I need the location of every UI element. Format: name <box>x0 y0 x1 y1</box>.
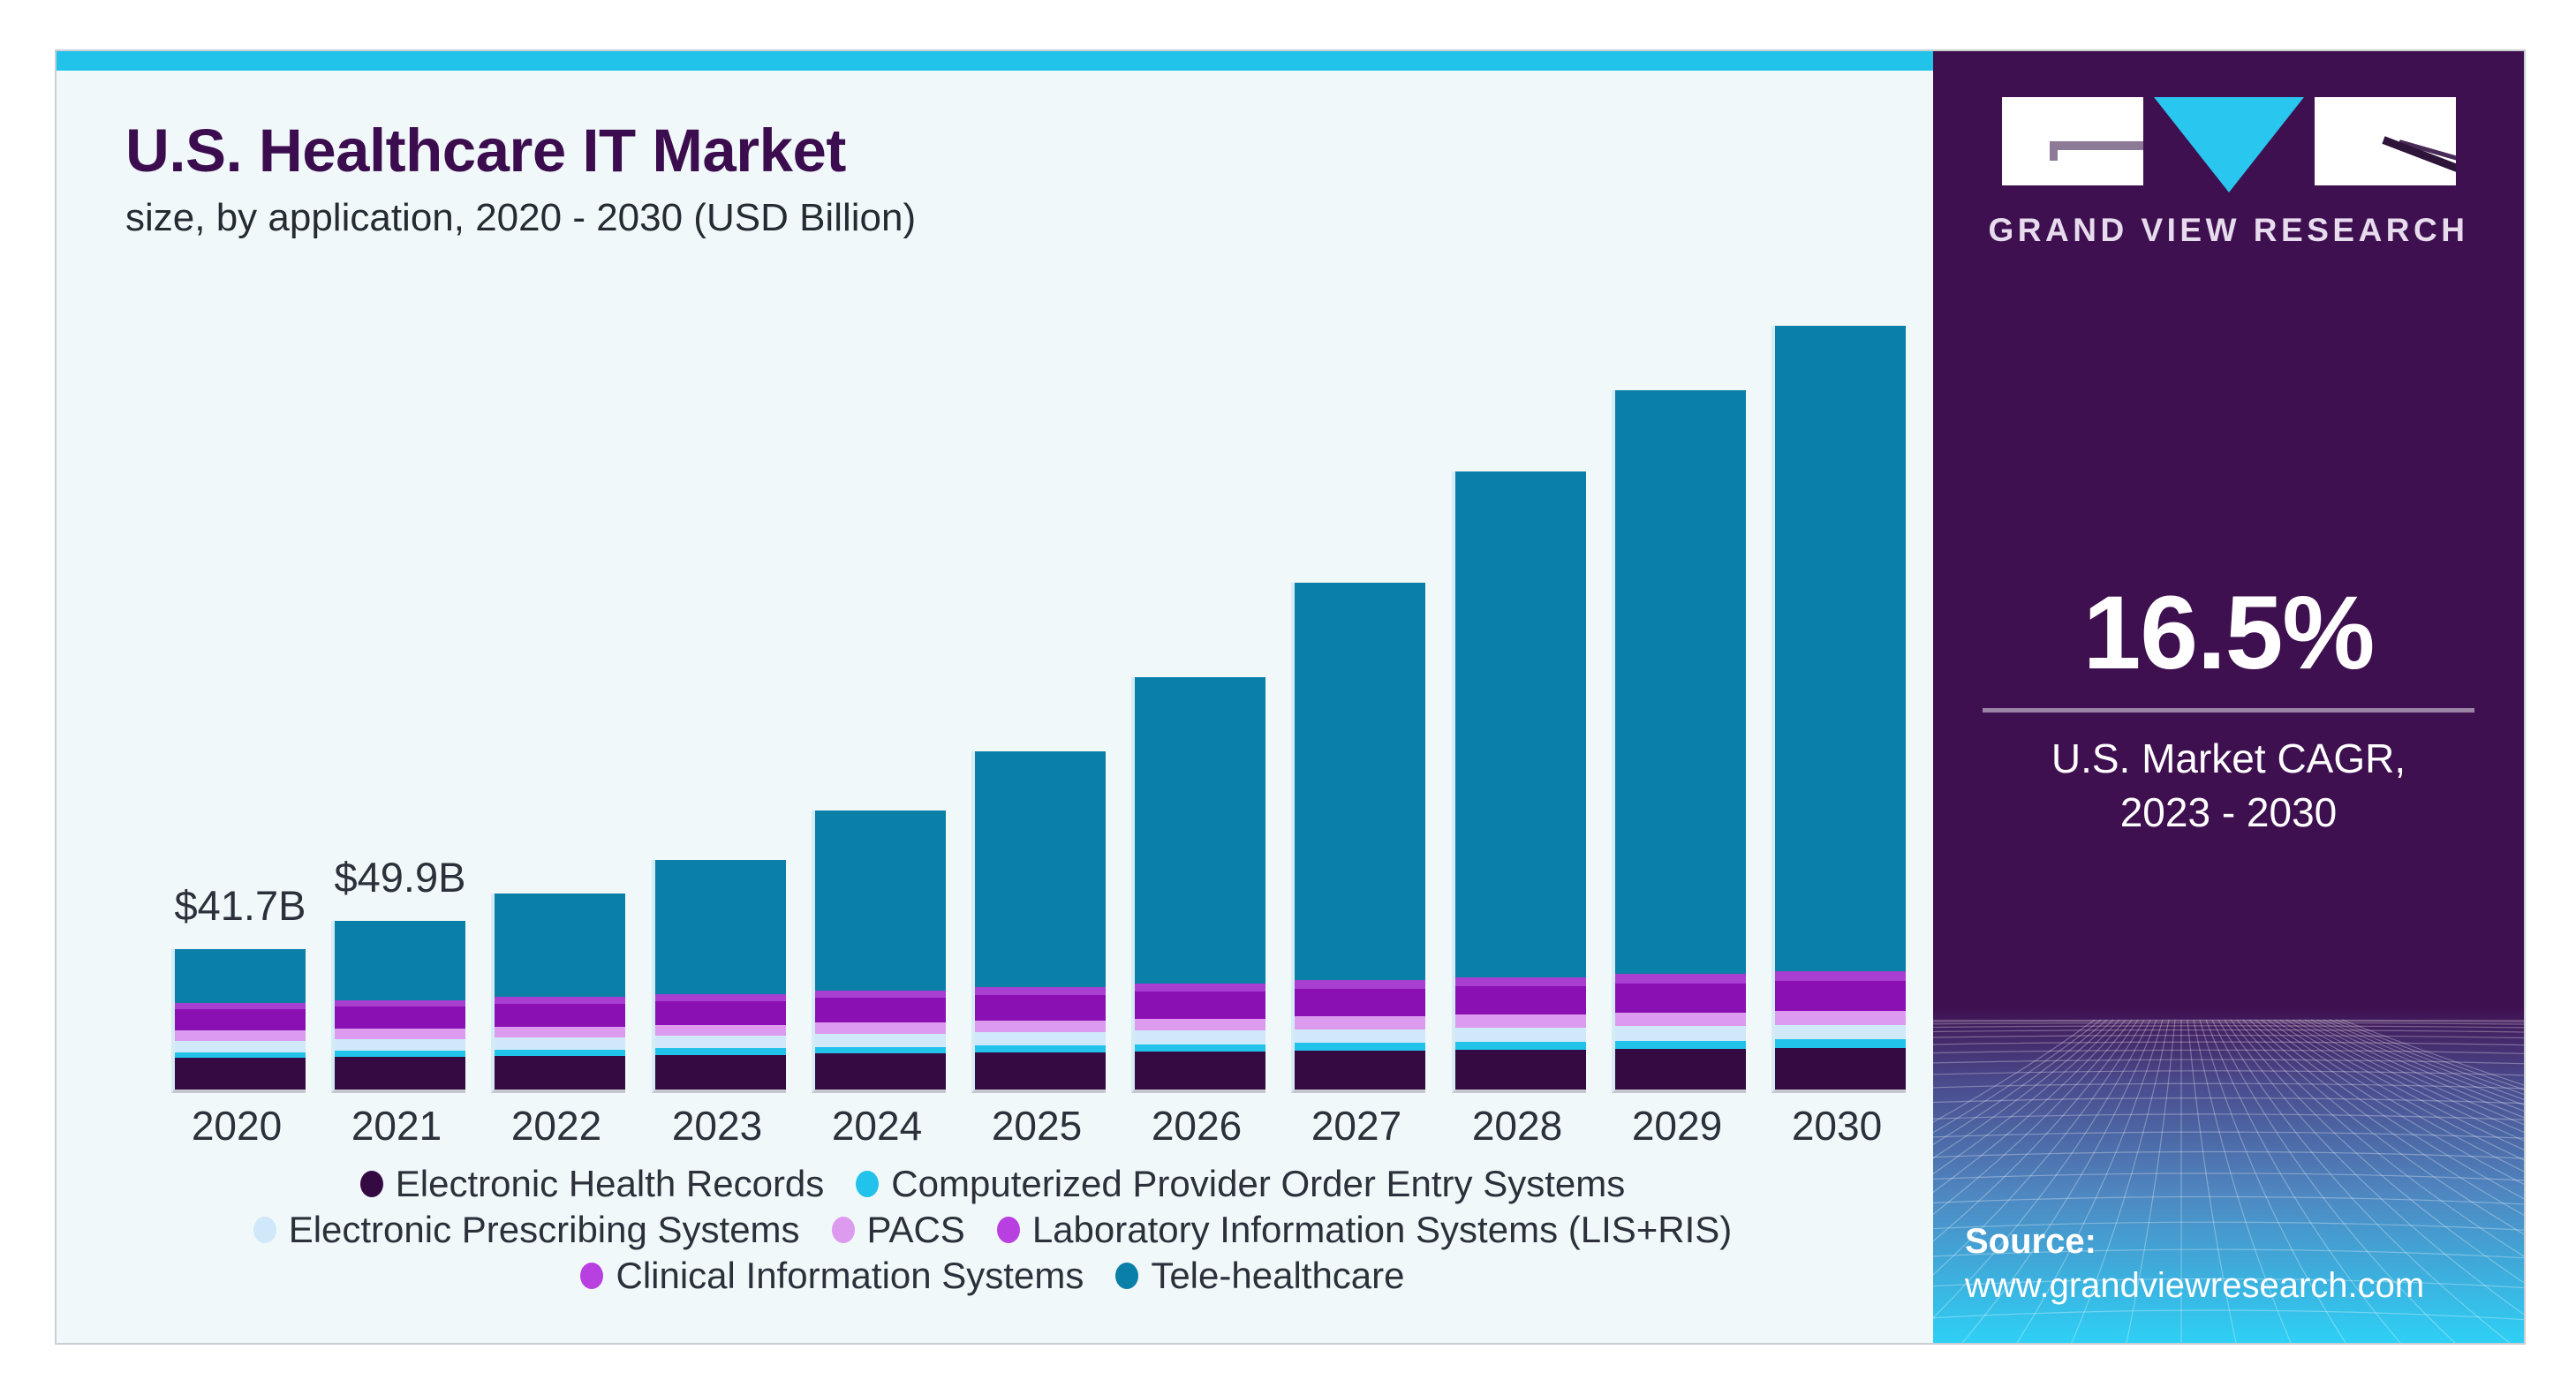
bar-segment <box>1295 1016 1425 1029</box>
x-axis-tick-2026: 2026 <box>1131 1102 1262 1150</box>
bar-segment <box>1455 471 1586 977</box>
bar-segment <box>975 1021 1106 1032</box>
bar-segment <box>1135 1030 1265 1044</box>
bar-stack <box>971 751 1106 1093</box>
bar-segment <box>975 995 1106 1021</box>
bar-segment <box>1295 1051 1425 1090</box>
bar-segment <box>1775 1025 1906 1040</box>
bar-segment <box>1295 989 1425 1016</box>
bar-segment <box>335 1000 465 1007</box>
cagr-caption-line-1: U.S. Market CAGR, <box>1983 732 2474 786</box>
bar-segment <box>175 949 306 1004</box>
bar-segment <box>495 1050 625 1056</box>
bar-segment <box>1775 981 1906 1011</box>
bar-segment <box>815 1047 946 1054</box>
cagr-callout: 16.5% U.S. Market CAGR, 2023 - 2030 <box>1933 581 2524 839</box>
bar-segment <box>335 921 465 1000</box>
logo-letter-r-icon <box>2315 97 2456 185</box>
bar-column-2023[interactable] <box>652 860 782 1093</box>
logo-marks <box>1933 97 2524 192</box>
legend-swatch-dot-icon <box>253 1217 276 1243</box>
bar-segment <box>1615 1026 1746 1040</box>
bar-stack <box>1131 677 1265 1093</box>
legend-item[interactable]: Electronic Prescribing Systems <box>253 1211 800 1248</box>
bar-segment <box>1135 1052 1265 1090</box>
legend-label: Electronic Prescribing Systems <box>289 1211 800 1248</box>
x-axis-tick-2027: 2027 <box>1291 1102 1422 1150</box>
bar-segment <box>655 1055 786 1090</box>
bar-segment <box>495 1004 625 1027</box>
bar-segment <box>1455 1028 1586 1042</box>
bar-segment <box>655 1001 786 1025</box>
legend-swatch-dot-icon <box>360 1171 383 1197</box>
bar-segment <box>335 1029 465 1039</box>
bar-column-2025[interactable] <box>971 751 1102 1093</box>
x-axis-tick-2030: 2030 <box>1771 1102 1902 1150</box>
bar-segment <box>175 1009 306 1030</box>
bar-segment <box>975 987 1106 995</box>
bar-segment <box>1455 977 1586 986</box>
source-url[interactable]: www.grandviewresearch.com <box>1965 1263 2512 1308</box>
bar-segment <box>815 1022 946 1034</box>
legend-item[interactable]: Computerized Provider Order Entry System… <box>856 1165 1625 1203</box>
bar-segment <box>1615 1049 1746 1090</box>
bar-segment <box>1615 390 1746 974</box>
page-title: U.S. Healthcare IT Market <box>125 120 1803 181</box>
x-axis-tick-2023: 2023 <box>652 1102 782 1150</box>
bar-segment <box>175 1030 306 1040</box>
legend-label: Laboratory Information Systems (LIS+RIS) <box>1032 1211 1732 1248</box>
bar-segment <box>175 1058 306 1090</box>
bar-column-2020[interactable]: $41.7B <box>171 949 302 1093</box>
x-axis-tick-2022: 2022 <box>491 1102 622 1150</box>
bar-segment <box>1775 1048 1906 1090</box>
bar-stack <box>1771 326 1906 1093</box>
bar-stack <box>491 894 625 1093</box>
bar-segment <box>975 1052 1106 1090</box>
legend-item[interactable]: Electronic Health Records <box>360 1165 825 1203</box>
bar-segment <box>495 894 625 997</box>
bar-segment <box>1135 1019 1265 1031</box>
bar-segment <box>815 1053 946 1090</box>
legend-swatch-dot-icon <box>832 1217 855 1243</box>
bar-segment <box>1135 1044 1265 1052</box>
cagr-caption-line-2: 2023 - 2030 <box>1983 786 2474 840</box>
bar-column-2027[interactable] <box>1291 583 1422 1093</box>
bar-stack <box>812 811 946 1093</box>
bar-segment <box>495 1027 625 1037</box>
legend-row-2: Electronic Prescribing SystemsPACSLabora… <box>92 1211 1893 1248</box>
bar-segment <box>655 994 786 1001</box>
bar-column-2024[interactable] <box>812 811 942 1093</box>
bar-column-2021[interactable]: $49.9B <box>331 921 462 1093</box>
logo-triangle-v-icon <box>2154 97 2304 192</box>
bar-segment <box>495 1037 625 1050</box>
legend-label: Clinical Information Systems <box>616 1257 1084 1294</box>
legend-item[interactable]: PACS <box>832 1211 965 1248</box>
bar-segment <box>1775 971 1906 981</box>
legend-swatch-dot-icon <box>997 1217 1020 1243</box>
bar-segment <box>655 1048 786 1054</box>
x-axis-tick-2029: 2029 <box>1612 1102 1742 1150</box>
bar-segment <box>1455 1014 1586 1028</box>
bar-segment <box>495 1056 625 1090</box>
bar-segment <box>335 1007 465 1029</box>
bar-segment <box>655 1025 786 1037</box>
bar-segment <box>335 1057 465 1090</box>
legend-item[interactable]: Clinical Information Systems <box>580 1257 1084 1294</box>
bar-segment <box>335 1039 465 1051</box>
x-axis-tick-2020: 2020 <box>171 1102 302 1150</box>
source-label: Source: <box>1965 1219 2512 1263</box>
bar-stack <box>1612 390 1746 1093</box>
source-block: Source: www.grandviewresearch.com <box>1965 1219 2512 1308</box>
chart-subtitle: size, by application, 2020 - 2030 (USD B… <box>125 197 1803 239</box>
sidebar-panel: GRAND VIEW RESEARCH 16.5% U.S. Market CA… <box>1933 51 2524 1343</box>
legend-row-3: Clinical Information SystemsTele-healthc… <box>92 1257 1893 1294</box>
bar-segment <box>1295 1029 1425 1044</box>
bar-segment <box>1775 326 1906 971</box>
x-axis-tick-labels: 2020202120222023202420252026202720282029… <box>171 1102 1902 1155</box>
x-axis-tick-2025: 2025 <box>971 1102 1102 1150</box>
bar-segment <box>175 1003 306 1009</box>
title-block: U.S. Healthcare IT Market size, by appli… <box>125 120 1803 239</box>
infographic-card: U.S. Healthcare IT Market size, by appli… <box>55 49 2526 1345</box>
bar-segment <box>1295 1043 1425 1051</box>
logo-letter-g-icon <box>2002 97 2143 185</box>
bar-segment <box>655 1036 786 1048</box>
bar-stack <box>1452 471 1586 1093</box>
legend-label: Computerized Provider Order Entry System… <box>891 1165 1625 1203</box>
bar-segment <box>175 1041 306 1052</box>
legend-item[interactable]: Tele-healthcare <box>1115 1257 1404 1294</box>
bar-segment <box>1615 1013 1746 1026</box>
bar-value-label: $49.9B <box>335 853 466 901</box>
bar-segment <box>655 860 786 994</box>
logo-wordmark: GRAND VIEW RESEARCH <box>1933 212 2524 249</box>
bar-column-2028[interactable] <box>1452 471 1583 1093</box>
legend-item[interactable]: Laboratory Information Systems (LIS+RIS) <box>997 1211 1732 1248</box>
bar-segment <box>975 1032 1106 1045</box>
bar-segment <box>975 1045 1106 1052</box>
bar-stack <box>1291 583 1425 1093</box>
bar-segment <box>1455 1050 1586 1090</box>
bar-segment <box>1615 984 1746 1014</box>
chart-panel: U.S. Healthcare IT Market size, by appli… <box>57 51 1933 1343</box>
legend-label: Tele-healthcare <box>1151 1257 1404 1294</box>
brand-logo: GRAND VIEW RESEARCH <box>1933 97 2524 249</box>
x-axis-tick-2024: 2024 <box>812 1102 942 1150</box>
x-axis-tick-2021: 2021 <box>331 1102 462 1150</box>
bar-segment <box>1455 1042 1586 1050</box>
bar-column-2026[interactable] <box>1131 677 1262 1093</box>
chart-legend: Electronic Health RecordsComputerized Pr… <box>92 1165 1893 1303</box>
legend-swatch-dot-icon <box>856 1171 879 1197</box>
bar-segment <box>1135 992 1265 1018</box>
bar-segment <box>815 1034 946 1047</box>
legend-label: PACS <box>867 1211 965 1248</box>
bar-segment <box>1135 677 1265 984</box>
x-axis-tick-2028: 2028 <box>1452 1102 1583 1150</box>
top-accent-bar <box>57 51 1933 71</box>
bar-segment <box>1295 980 1425 989</box>
bar-stack: $41.7B <box>171 949 306 1093</box>
bar-column-2030[interactable] <box>1771 326 1902 1093</box>
legend-swatch-dot-icon <box>580 1263 603 1289</box>
bar-segment <box>1135 984 1265 992</box>
bar-segment <box>1615 974 1746 983</box>
legend-label: Electronic Health Records <box>396 1165 825 1203</box>
bar-segment <box>1455 986 1586 1015</box>
bar-column-2029[interactable] <box>1612 390 1742 1093</box>
plot-area: $41.7B$49.9B <box>171 316 1902 1093</box>
legend-swatch-dot-icon <box>1115 1263 1138 1289</box>
legend-row-1: Electronic Health RecordsComputerized Pr… <box>92 1165 1893 1203</box>
cagr-divider <box>1983 708 2474 713</box>
bar-segment <box>1615 1041 1746 1050</box>
bar-segment <box>1775 1011 1906 1024</box>
bar-segment <box>815 998 946 1022</box>
bar-value-label: $41.7B <box>175 881 306 930</box>
bar-segment <box>1775 1039 1906 1048</box>
bar-segment <box>1295 583 1425 980</box>
bar-segment <box>495 997 625 1004</box>
bar-segment <box>975 751 1106 987</box>
bar-segment <box>815 991 946 998</box>
bar-stack: $49.9B <box>331 921 465 1093</box>
bar-segment <box>815 811 946 991</box>
bar-stack <box>652 860 786 1093</box>
bar-column-2022[interactable] <box>491 894 622 1093</box>
cagr-value: 16.5% <box>1983 581 2474 685</box>
